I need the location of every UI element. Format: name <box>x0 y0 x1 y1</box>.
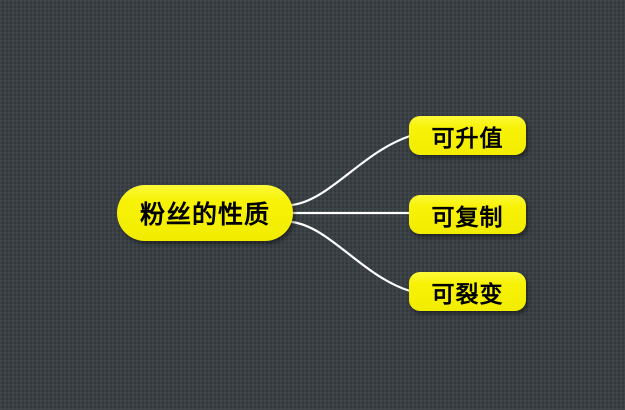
mindmap-root-node[interactable]: 粉丝的性质 <box>117 185 293 241</box>
connector-line-upper <box>292 136 410 205</box>
connector-layer <box>0 0 625 410</box>
mindmap-branch-label-2: 可复制 <box>432 198 504 232</box>
mindmap-branch-node-2[interactable]: 可复制 <box>409 195 526 234</box>
mindmap-branch-label-1: 可升值 <box>432 119 504 153</box>
mindmap-branch-node-1[interactable]: 可升值 <box>409 116 526 155</box>
connector-line-lower <box>292 222 410 291</box>
mindmap-branch-node-3[interactable]: 可裂变 <box>409 272 526 311</box>
mindmap-root-label: 粉丝的性质 <box>140 195 270 231</box>
mindmap-canvas: 粉丝的性质 可升值 可复制 可裂变 <box>0 0 625 410</box>
mindmap-branch-label-3: 可裂变 <box>432 275 504 309</box>
